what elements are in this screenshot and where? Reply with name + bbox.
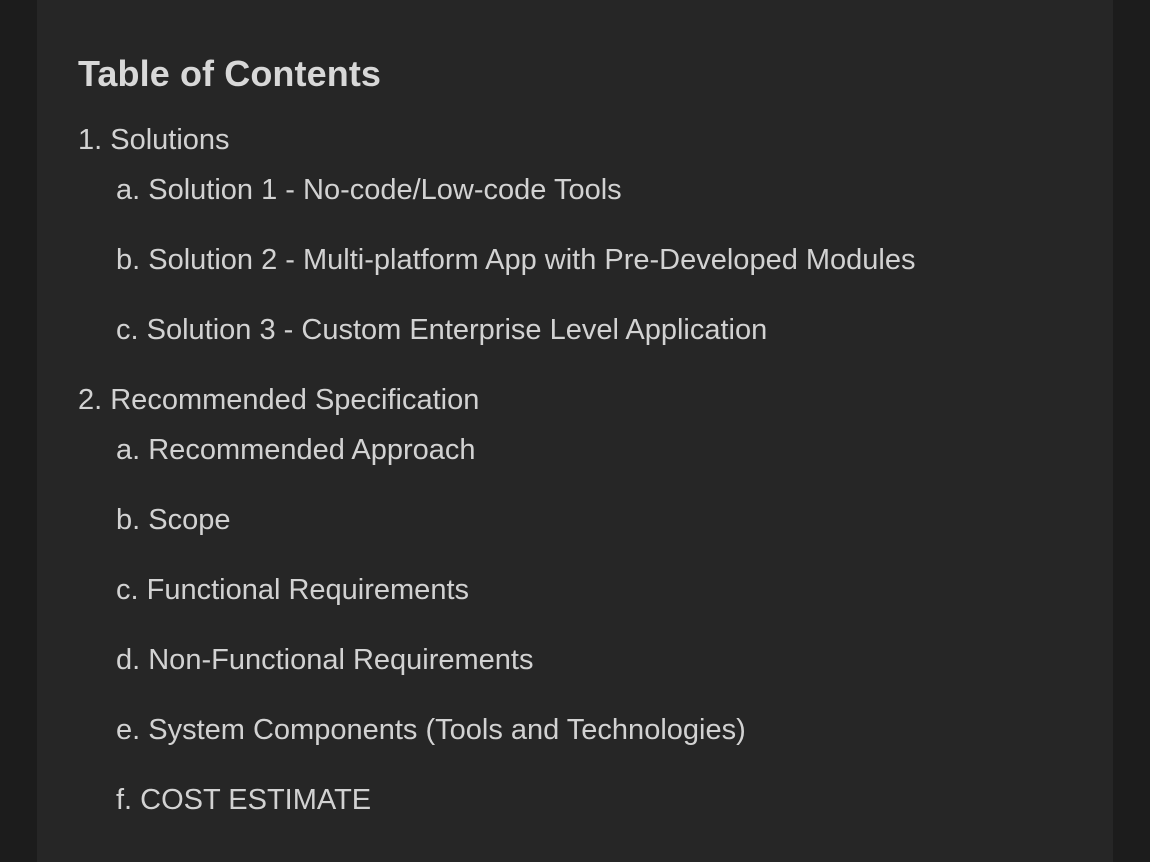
toc-entry-2d-non-functional-requirements[interactable]: d. Non-Functional Requirements <box>116 646 1098 675</box>
toc-entry-1a-solution-1[interactable]: a. Solution 1 - No-code/Low-code Tools <box>116 176 1098 205</box>
toc-entry-1b-solution-2[interactable]: b. Solution 2 - Multi-platform App with … <box>116 246 1098 275</box>
toc-entry-2-recommended-specification[interactable]: 2. Recommended Specification <box>78 386 1098 415</box>
table-of-contents-list: 1. Solutions a. Solution 1 - No-code/Low… <box>78 126 1098 815</box>
toc-entry-2a-recommended-approach[interactable]: a. Recommended Approach <box>116 436 1098 465</box>
toc-entry-1c-solution-3[interactable]: c. Solution 3 - Custom Enterprise Level … <box>116 316 1098 345</box>
toc-entry-2f-cost-estimate[interactable]: f. COST ESTIMATE <box>116 786 1098 815</box>
slide-root: Table of Contents 1. Solutions a. Soluti… <box>0 0 1150 862</box>
toc-entry-2e-system-components[interactable]: e. System Components (Tools and Technolo… <box>116 716 1098 745</box>
toc-entry-2c-functional-requirements[interactable]: c. Functional Requirements <box>116 576 1098 605</box>
document-content-surface: Table of Contents 1. Solutions a. Soluti… <box>37 0 1113 862</box>
toc-entry-2b-scope[interactable]: b. Scope <box>116 506 1098 535</box>
page-title: Table of Contents <box>78 52 381 95</box>
toc-entry-1-solutions[interactable]: 1. Solutions <box>78 126 1098 155</box>
